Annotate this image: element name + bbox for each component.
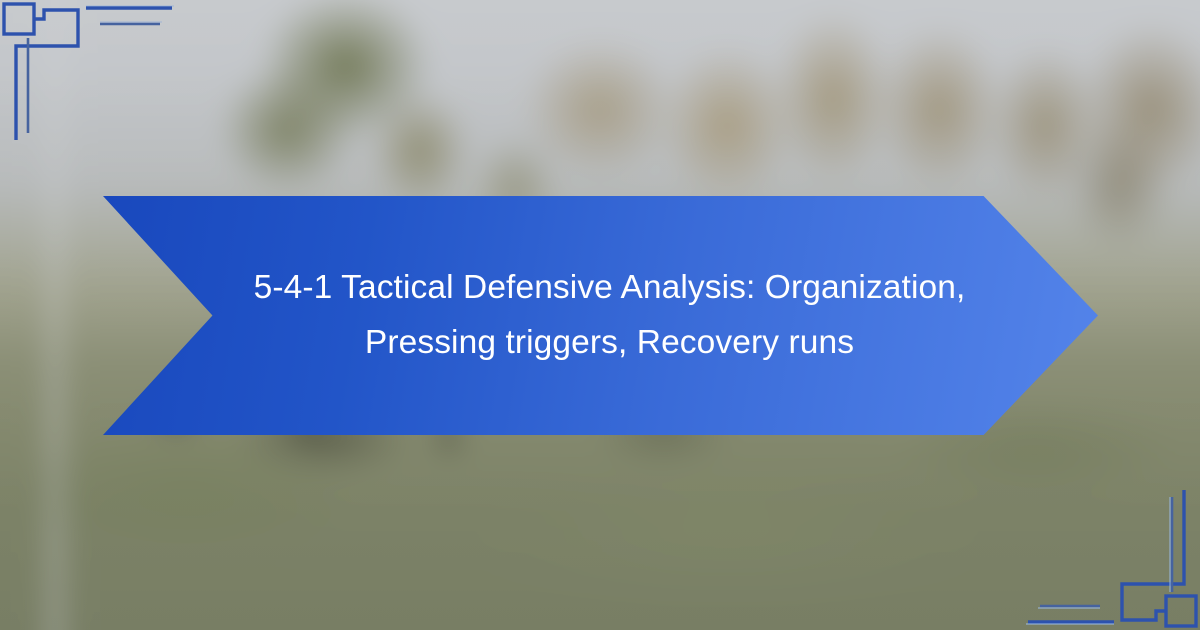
title-banner: 5-4-1 Tactical Defensive Analysis: Organ… <box>103 196 1098 435</box>
banner-title-line-1: 5-4-1 Tactical Defensive Analysis: Organ… <box>230 261 990 315</box>
banner-title-line-2: Pressing triggers, Recovery runs <box>230 316 990 370</box>
banner-title: 5-4-1 Tactical Defensive Analysis: Organ… <box>230 261 990 370</box>
banner-canvas: 5-4-1 Tactical Defensive Analysis: Organ… <box>0 0 1200 630</box>
